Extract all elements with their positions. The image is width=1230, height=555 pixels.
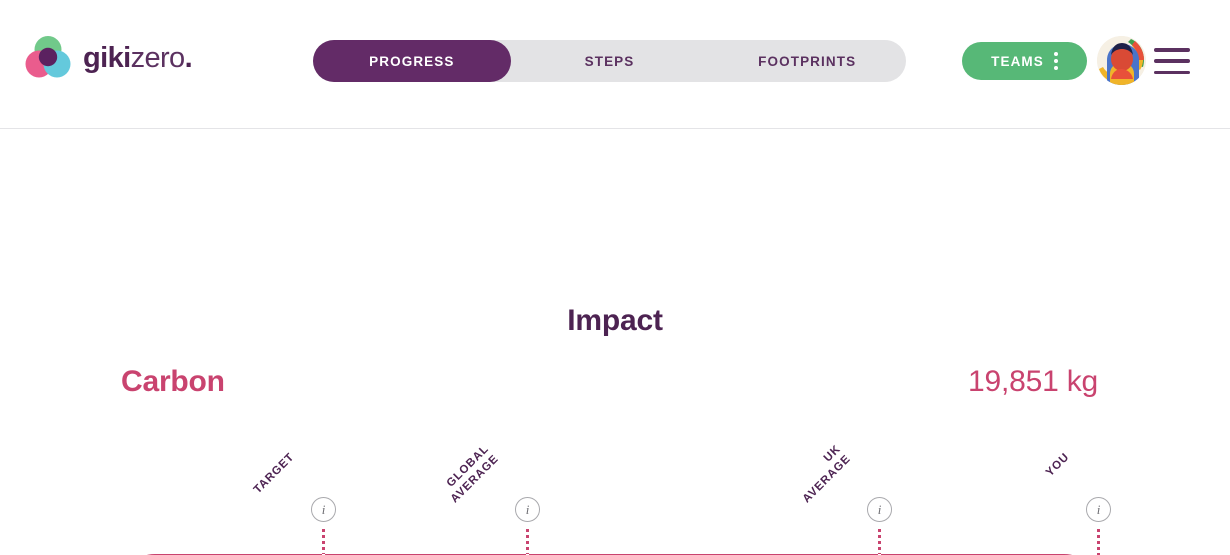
brand-name-light: zero (131, 42, 185, 74)
brand-dot: . (185, 42, 192, 74)
marker-target-label: TARGET (218, 451, 298, 531)
marker-target-line-above (322, 529, 325, 554)
carbon-impact-chart: TARGET i GLOBAL AVERAGE i UK AVERAGE i (0, 129, 1230, 555)
hamburger-menu-icon[interactable] (1154, 48, 1190, 74)
brand-name-bold: giki (83, 42, 131, 74)
tab-steps[interactable]: STEPS (511, 40, 709, 82)
teams-button-label: TEAMS (991, 54, 1044, 69)
main-content: Impact Carbon 19,851 kg TARGET i GLOBAL … (0, 129, 1230, 555)
avatar[interactable] (1097, 36, 1146, 85)
tab-progress[interactable]: PROGRESS (313, 40, 511, 82)
brand-logo[interactable]: gikizero. (24, 34, 192, 82)
marker-you-info-circle-icon[interactable]: i (1086, 497, 1111, 522)
marker-global-average-line-above (526, 529, 529, 554)
marker-global-average-label: GLOBAL AVERAGE (412, 443, 502, 533)
marker-uk-average-line-above (878, 529, 881, 554)
main-nav-tabs: PROGRESS STEPS FOOTPRINTS (313, 40, 906, 82)
marker-global-average-info-circle-icon[interactable]: i (515, 497, 540, 522)
brand-wordmark: gikizero. (83, 42, 192, 75)
teams-button[interactable]: TEAMS (962, 42, 1087, 80)
marker-uk-average-info-circle-icon[interactable]: i (867, 497, 892, 522)
user-avatar-illustration-icon (1097, 36, 1146, 85)
marker-uk-average-label: UK AVERAGE (764, 443, 854, 533)
tab-footprints[interactable]: FOOTPRINTS (708, 40, 906, 82)
giki-overlapping-circles-logo-icon (24, 34, 72, 82)
marker-you-line (1097, 529, 1100, 555)
kebab-vertical-dots-icon[interactable] (1054, 52, 1058, 70)
app-header: gikizero. PROGRESS STEPS FOOTPRINTS TEAM… (0, 0, 1230, 129)
marker-you-label: YOU (993, 451, 1073, 531)
marker-target-info-circle-icon[interactable]: i (311, 497, 336, 522)
